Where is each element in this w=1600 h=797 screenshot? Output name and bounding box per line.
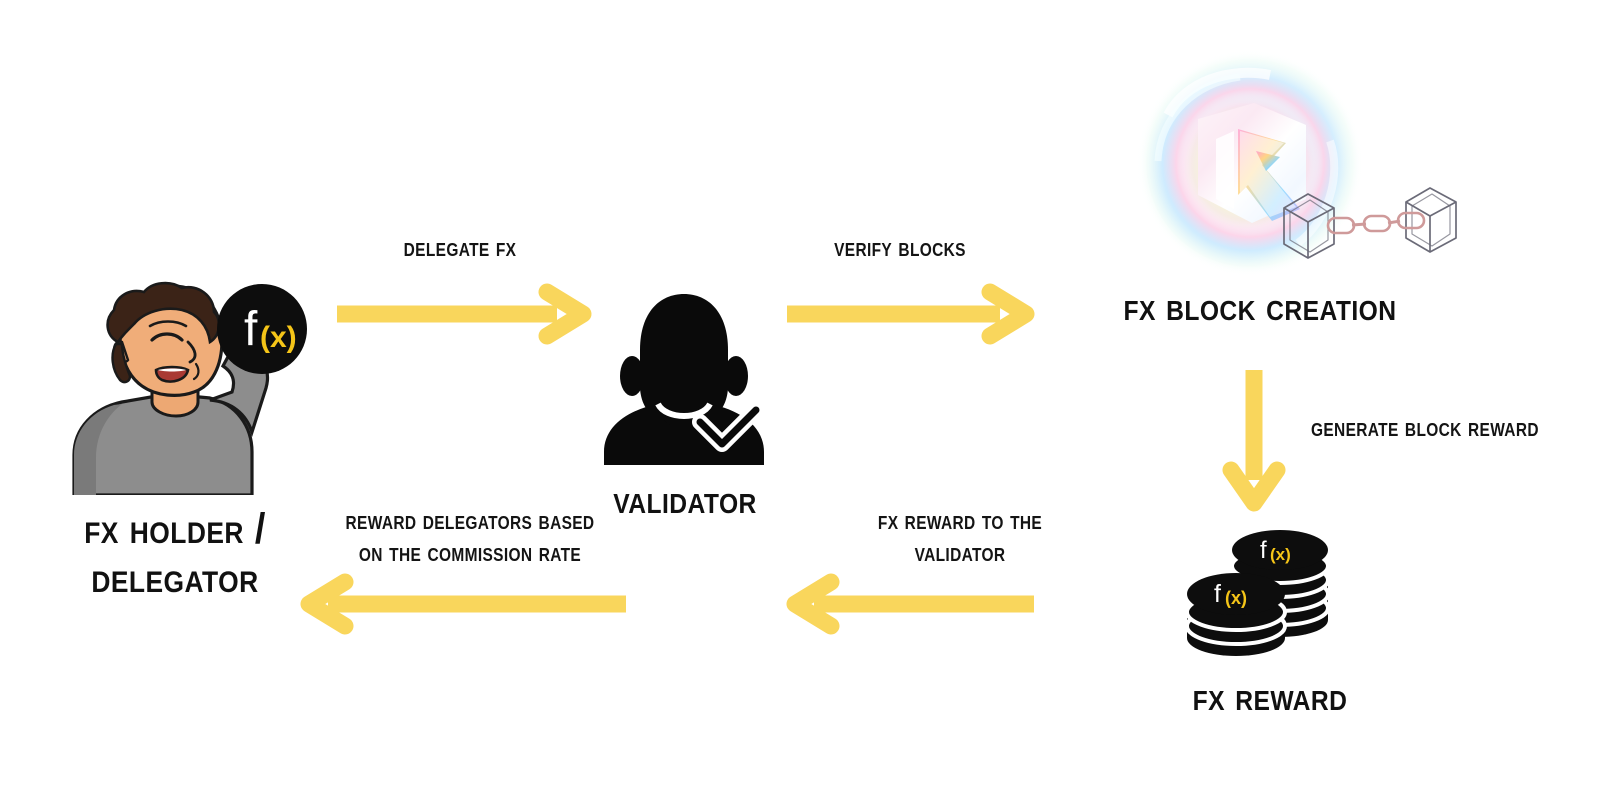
- fx-reward-to-validator-line2: Validator: [822, 537, 1097, 569]
- blockchain-cubes-icon: [1276, 182, 1464, 266]
- svg-text:f: f: [1260, 537, 1267, 564]
- arrow-delegate-fx: [335, 288, 590, 340]
- arrow-fx-reward-to-validator: [786, 578, 1036, 630]
- fx-holder-label-line1: FX holder /: [30, 505, 320, 554]
- reward-delegators-line2: on the commission rate: [324, 537, 616, 569]
- edge-label-reward-delegators: Reward delegators based on the commissio…: [324, 505, 616, 569]
- edge-label-verify-blocks: Verify blocks: [762, 232, 1037, 264]
- svg-text:(x): (x): [1270, 545, 1291, 564]
- fx-coin-icon: f (x): [216, 283, 308, 375]
- node-label-fx-reward: FX Reward: [1138, 675, 1402, 721]
- edge-label-delegate-fx: Delegate FX: [322, 232, 597, 264]
- node-label-fx-holder: FX holder / Delegator: [30, 505, 320, 603]
- arrow-reward-delegators: [300, 578, 630, 630]
- svg-text:f: f: [1214, 580, 1221, 608]
- fx-reward-coins-icon: f (x) f (x): [1180, 520, 1370, 660]
- fx-holder-label-line2: Delegator: [30, 554, 320, 603]
- fx-reward-to-validator-line1: FX reward to the: [822, 505, 1097, 537]
- edge-label-fx-reward-to-validator: FX reward to the Validator: [822, 505, 1097, 569]
- svg-text:(x): (x): [1225, 588, 1247, 608]
- validator-person-icon: [600, 290, 768, 465]
- diagram-canvas: f (x) FX holder / Delegator Delegate FX: [0, 0, 1600, 797]
- arrow-generate-block-reward: [1225, 368, 1283, 508]
- reward-delegators-line1: Reward delegators based: [324, 505, 616, 537]
- edge-label-generate-block-reward: Generate Block reward: [1311, 412, 1569, 444]
- arrow-verify-blocks: [785, 288, 1033, 340]
- svg-text:f: f: [244, 303, 258, 356]
- svg-text:(x): (x): [260, 321, 297, 354]
- node-label-fx-block-creation: FX Block Creation: [1084, 285, 1436, 331]
